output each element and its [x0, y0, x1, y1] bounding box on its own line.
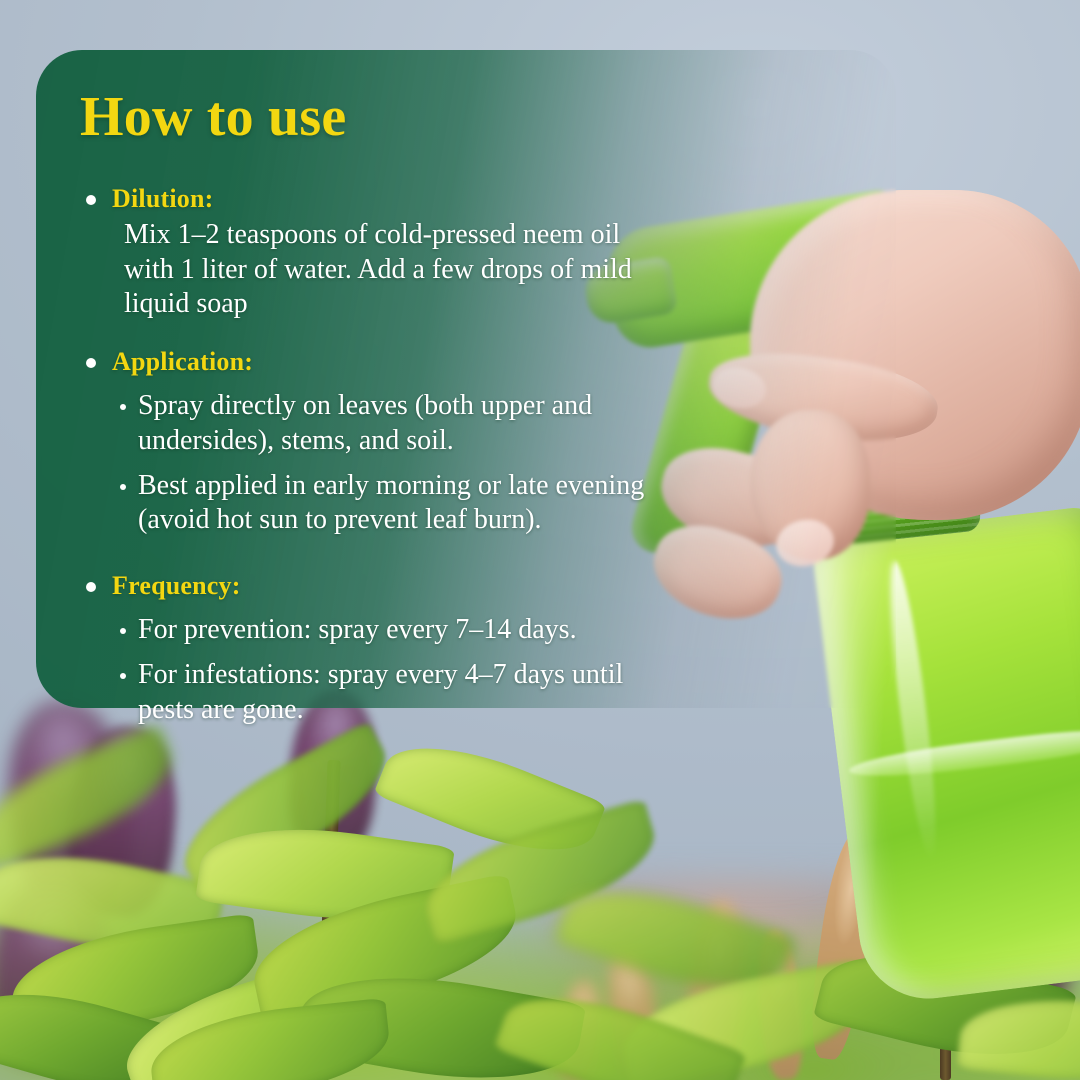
- sub-bullet-dot-icon: [120, 628, 126, 634]
- card-content: How to use Dilution: Mix 1–2 teaspoons o…: [36, 50, 696, 708]
- bullet-dot-icon: [86, 582, 96, 592]
- sub-bullet-dot-icon: [120, 484, 126, 490]
- section-label-frequency: Frequency:: [112, 568, 241, 603]
- application-bullet-1: Spray directly on leaves (both upper and…: [138, 389, 676, 458]
- how-to-use-card: How to use Dilution: Mix 1–2 teaspoons o…: [36, 50, 896, 708]
- section-dilution: Dilution: Mix 1–2 teaspoons of cold-pres…: [58, 181, 676, 322]
- page-title: How to use: [80, 88, 676, 147]
- application-bullet-2: Best applied in early morning or late ev…: [138, 469, 676, 538]
- dilution-paragraph: Mix 1–2 teaspoons of cold-pressed neem o…: [124, 218, 676, 322]
- section-label-dilution: Dilution:: [112, 181, 213, 216]
- list-item: For infestations: spray every 4–7 days u…: [120, 658, 676, 727]
- sub-bullet-dot-icon: [120, 673, 126, 679]
- section-label-application: Application:: [112, 344, 253, 379]
- infographic-canvas: How to use Dilution: Mix 1–2 teaspoons o…: [0, 0, 1080, 1080]
- sub-bullet-dot-icon: [120, 404, 126, 410]
- frequency-bullet-2: For infestations: spray every 4–7 days u…: [138, 658, 676, 727]
- section-heading: Dilution:: [86, 181, 676, 216]
- frequency-bullet-1: For prevention: spray every 7–14 days.: [138, 613, 577, 648]
- section-heading: Frequency:: [86, 568, 676, 603]
- list-item: For prevention: spray every 7–14 days.: [120, 613, 676, 648]
- list-item: Best applied in early morning or late ev…: [120, 469, 676, 538]
- section-application: Application: Spray directly on leaves (b…: [58, 344, 676, 538]
- section-frequency: Frequency: For prevention: spray every 7…: [58, 568, 676, 727]
- bullet-dot-icon: [86, 195, 96, 205]
- section-heading: Application:: [86, 344, 676, 379]
- bullet-dot-icon: [86, 358, 96, 368]
- list-item: Spray directly on leaves (both upper and…: [120, 389, 676, 458]
